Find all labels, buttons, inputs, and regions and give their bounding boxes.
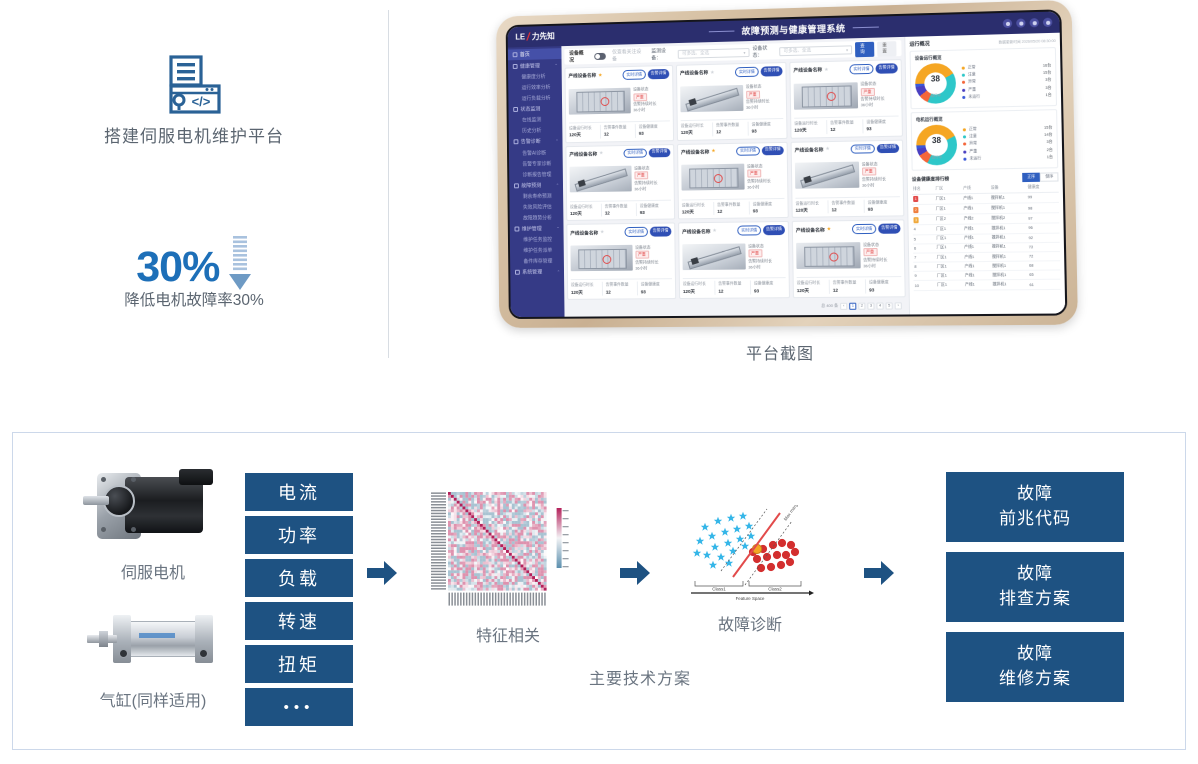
table-row[interactable]: 10厂区1产线1搅拌机161 [914, 280, 1061, 291]
device-status-block: 设备状态严重告警持续时长36小时 [747, 163, 785, 191]
realtime-detail-button[interactable]: 实时详情 [623, 148, 646, 158]
alarm-detail-button[interactable]: 告警详情 [649, 148, 671, 158]
card-header: 产线设备名称★实时详情告警详情 [569, 148, 670, 159]
servo-motor-photo [79, 465, 227, 555]
status-badge: 严重 [746, 90, 760, 98]
rank-cell: 搅拌机1 [991, 252, 1028, 262]
device-stat: 设备健康度93 [748, 121, 784, 135]
device-stat: 设备运行时长120天 [794, 120, 826, 134]
bell-icon[interactable] [1030, 18, 1039, 27]
status-badge: 严重 [633, 93, 647, 101]
rank-cell: 5 [913, 234, 936, 244]
duration-label: 告警持续时长 [635, 259, 658, 264]
duration-label: 告警持续时长 [634, 180, 657, 185]
tablet-screenshot-area: LE / 力先知 故障预测与健康管理系统 [470, 0, 1090, 340]
card-header: 产线设备名称★实时详情告警详情 [568, 69, 669, 81]
rank-medal-icon: 1 [913, 196, 918, 202]
device-overview-column: 设备概况 仅查看关注设备 监测设备： 可多选、全选 ▾ 设备状态： [561, 37, 909, 317]
tablet-caption: 平台截图 [470, 340, 1090, 364]
overview-label: 设备概况 [569, 49, 588, 63]
device-stat: 设备健康度93 [749, 201, 785, 215]
device-card[interactable]: 产线设备名称★实时详情告警详情设备状态严重告警持续时长36小时设备运行时长120… [792, 220, 906, 298]
card-header: 产线设备名称★实时详情告警详情 [793, 63, 897, 75]
realtime-detail-button[interactable]: 实时详情 [849, 64, 873, 74]
chevron-up-icon[interactable]: ⌃ [557, 270, 560, 275]
logo-text-right: 力先知 [532, 31, 555, 42]
card-buttons: 实时详情告警详情 [624, 227, 671, 237]
rank-cell: 搅拌机1 [991, 271, 1028, 281]
tech-solution-caption: 主要技术方案 [505, 665, 775, 689]
rank-cell: 7 [913, 253, 936, 263]
pager-page-1[interactable]: 1 [849, 302, 856, 309]
svg-text:Feature Space: Feature Space [736, 596, 765, 601]
alarm-detail-button[interactable]: 告警详情 [762, 146, 784, 156]
device-thumbnail [680, 85, 743, 112]
output-line1: 故障 [1017, 562, 1053, 587]
pager-prev[interactable]: ‹ [840, 302, 847, 309]
toggle-hint: 仅查看关注设备 [612, 48, 646, 63]
heatmap-caption: 特征相关 [418, 622, 598, 646]
rank-cell: 2 [912, 204, 935, 215]
status-badge: 严重 [635, 251, 649, 259]
duration-label: 告警持续时长 [746, 99, 770, 105]
status-label: 设备状态 [746, 84, 762, 89]
alarm-detail-button[interactable]: 告警详情 [761, 66, 783, 76]
svm-classification-icon: Max marginClass1Class2Feature Space [685, 505, 815, 603]
stat-caption: 降低电机故障率30% [0, 288, 388, 310]
device-card[interactable]: 产线设备名称★实时详情告警详情设备状态严重告警持续时长36小时设备运行时长120… [676, 62, 788, 141]
rank-cell: 6 [913, 243, 936, 253]
device-thumbnail [794, 82, 858, 109]
output-line2: 排查方案 [999, 587, 1071, 612]
logo-text-left: LE [515, 32, 525, 41]
device-card[interactable]: 产线设备名称★实时详情告警详情设备状态严重告警持续时长36小时设备运行时长120… [566, 223, 676, 300]
parameter-box-3: 转速 [245, 602, 353, 640]
rank-cell: 产线1 [963, 243, 991, 253]
duration-label: 告警持续时长 [747, 178, 771, 183]
realtime-detail-button[interactable]: 实时详情 [736, 146, 760, 156]
device-stat: 设备运行时长120天 [682, 202, 714, 216]
card-body: 设备状态严重告警持续时长36小时 [794, 75, 899, 116]
device-card[interactable]: 产线设备名称★实时详情告警详情设备状态严重告警持续时长36小时设备运行时长120… [565, 144, 675, 222]
device-card[interactable]: 产线设备名称★实时详情告警详情设备状态严重告警持续时长36小时设备运行时长120… [791, 139, 905, 218]
legend-swatch [962, 96, 965, 99]
device-stat-value: 12 [718, 287, 750, 295]
rank-header: 设备健康度排行榜 正序倒序 [912, 172, 1059, 184]
card-body: 设备状态严重告警持续时长36小时 [570, 238, 672, 277]
rank-cell: 厂区1 [936, 271, 964, 281]
stat-value: 30% [136, 246, 219, 289]
pneumatic-cylinder-label: 气缸(同样适用) [73, 687, 233, 711]
app-body: 首页健康管理⌃健康度分析运行效率分析运行负载分析状态监测在线监测历史分析告警诊断… [508, 33, 1065, 317]
device-card[interactable]: 产线设备名称★实时详情告警详情设备状态严重告警持续时长36小时设备运行时长120… [789, 59, 903, 138]
heatmap-block: 特征相关 [418, 488, 598, 646]
realtime-detail-button[interactable]: 实时详情 [622, 70, 645, 80]
chevron-up-icon[interactable]: ⌃ [556, 226, 559, 231]
device-stat: 设备健康度93 [864, 199, 901, 213]
rank-cell: 搅拌机1 [990, 203, 1027, 214]
run-overview-title: 运行概况 [909, 40, 929, 48]
device-card[interactable]: 产线设备名称★实时详情告警详情设备状态严重告警持续时长36小时设备运行时长120… [565, 65, 675, 143]
card-stats: 设备运行时长120天告警事件数量12设备健康度93 [570, 199, 671, 217]
down-arrow-icon [228, 236, 252, 294]
sidebar-sub-item-15[interactable]: 故障趋势分析 [510, 212, 564, 224]
output-line1: 故障 [1017, 642, 1053, 667]
device-stat-value: 120天 [794, 126, 826, 134]
status-label: 设备状态 [748, 243, 764, 248]
alarm-detail-button[interactable]: 告警详情 [878, 224, 900, 234]
status-label: 设备状态 [634, 165, 650, 170]
favorites-toggle[interactable] [594, 52, 606, 59]
rank-cell: 产线1 [963, 252, 991, 262]
device-status-block: 设备状态严重告警持续时长36小时 [746, 83, 784, 111]
duration-label: 告警持续时长 [860, 96, 884, 102]
device-donut-chart: 38 运行中 [915, 63, 956, 104]
favorite-star-icon[interactable]: ★ [712, 228, 717, 234]
device-stat-value: 120天 [571, 288, 602, 296]
rank-cell: 92 [1027, 233, 1059, 243]
status-label: 设备状态 [862, 161, 878, 166]
output-box-2: 故障维修方案 [946, 632, 1124, 702]
parameter-box-2: 负载 [245, 559, 353, 597]
rank-cell: 厂区1 [936, 262, 964, 272]
health-rank-table: 排名厂区产线设备健康度 1厂区1产线1搅拌机1992厂区1产线1搅拌机1983厂… [912, 184, 1061, 291]
home-icon[interactable] [1016, 18, 1025, 27]
device-stat: 设备健康度93 [862, 119, 899, 133]
alarm-detail-button[interactable]: 告警详情 [648, 69, 670, 79]
sidebar-sub-item-17[interactable]: 维护任务监控 [510, 234, 564, 245]
sidebar-item-12[interactable]: 故障预测⌃ [509, 179, 563, 191]
svm-caption: 故障诊断 [670, 611, 830, 635]
device-thumbnail [569, 88, 631, 115]
svg-text:Class1: Class1 [712, 587, 726, 592]
realtime-detail-button[interactable]: 实时详情 [737, 226, 761, 236]
card-header: 产线设备名称★实时详情告警详情 [795, 143, 900, 155]
app-title: 故障预测与健康管理系统 [741, 21, 845, 37]
data-updated-time: 数据更新时间 2026/05/20 08:30:00 [999, 39, 1056, 46]
rank-cell: 9 [913, 271, 936, 281]
rank-cell: 10 [914, 281, 937, 291]
device-stat: 设备健康度93 [750, 281, 786, 295]
favorite-star-icon[interactable]: ★ [711, 149, 715, 155]
favorite-star-icon[interactable]: ★ [824, 67, 829, 73]
status-badge: 严重 [860, 88, 874, 96]
rank-cell: 68 [1028, 261, 1060, 271]
rank-cell: 搅拌机1 [991, 280, 1028, 290]
device-stat: 设备健康度93 [637, 282, 672, 296]
duration-label: 告警持续时长 [748, 258, 772, 263]
card-body: 设备状态严重告警持续时长36小时 [681, 157, 784, 197]
device-stat-value: 93 [868, 205, 900, 213]
duration-label: 告警持续时长 [633, 101, 656, 106]
rank-cell: 61 [1028, 280, 1060, 290]
rank-tab-1[interactable]: 倒序 [1040, 172, 1058, 181]
parameter-box-4: 扭矩 [245, 645, 353, 683]
sidebar[interactable]: 首页健康管理⌃健康度分析运行效率分析运行负载分析状态监测在线监测历史分析告警诊断… [508, 46, 565, 317]
filter-group: 监测设备： 可多选、全选 ▾ 设备状态： 可多选、全选 ▾ [651, 41, 896, 62]
status-label: 设备状态 [635, 244, 651, 249]
alarm-detail-button[interactable]: 告警详情 [875, 63, 897, 73]
app-logo[interactable]: LE / 力先知 [508, 29, 591, 43]
device-stat: 设备健康度93 [636, 202, 671, 216]
servo-motor-label: 伺服电机 [73, 559, 233, 583]
card-stats: 设备运行时长120天告警事件数量12设备健康度93 [797, 276, 902, 294]
status-filter-select[interactable]: 可多选、全选 ▾ [780, 45, 853, 56]
output-box-0: 故障前兆代码 [946, 472, 1124, 542]
rank-cell: 搅拌机1 [990, 193, 1027, 204]
rank-cell: 厂区1 [935, 234, 963, 244]
device-stat-value: 93 [753, 207, 785, 215]
vertical-divider [388, 10, 389, 358]
legend-swatch [962, 74, 965, 77]
legend-swatch [963, 136, 966, 139]
legend-value: 2台 [1047, 147, 1053, 154]
device-stat: 告警事件数量12 [826, 119, 862, 133]
rank-cell: 产线1 [963, 233, 991, 243]
sidebar-sub-item-13[interactable]: 剩余寿命预测 [509, 190, 563, 202]
device-thumbnail [570, 166, 632, 193]
card-buttons: 实时详情告警详情 [851, 143, 900, 154]
legend-swatch [963, 128, 966, 131]
card-buttons: 实时详情告警详情 [735, 66, 783, 77]
device-filter-placeholder: 可多选、全选 [682, 50, 709, 57]
device-stat: 设备运行时长120天 [569, 125, 600, 139]
rank-cell: 搅拌机2 [990, 213, 1027, 224]
sidebar-sub-item-18[interactable]: 维护任务派单 [510, 245, 564, 256]
device-stat-value: 12 [833, 286, 865, 294]
device-stat-value: 12 [605, 209, 636, 217]
duration-value: 36小时 [862, 182, 875, 187]
alarm-detail-button[interactable]: 告警详情 [877, 143, 899, 153]
card-buttons: 实时详情告警详情 [622, 69, 669, 80]
duration-label: 告警持续时长 [862, 176, 886, 181]
chevron-up-icon[interactable]: ⌃ [556, 182, 559, 187]
device-donut-panel: 设备运行概览 38 运行中 正常16台注意15台异常3台严重3台未运行1台 [910, 47, 1057, 109]
device-stat: 设备运行时长120天 [683, 281, 715, 295]
card-buttons: 实时详情告警详情 [849, 63, 897, 74]
rank-cell: 产线1 [962, 203, 990, 214]
legend-label: 未运行 [969, 155, 981, 163]
realtime-detail-button[interactable]: 实时详情 [851, 144, 875, 154]
device-name: 产线设备名称 [568, 72, 596, 80]
rank-cell: 96 [1027, 223, 1059, 233]
device-card[interactable]: 产线设备名称★实时详情告警详情设备状态严重告警持续时长36小时设备运行时长120… [677, 142, 789, 220]
device-name: 产线设备名称 [796, 226, 825, 233]
settings-icon[interactable] [1043, 18, 1052, 27]
run-overview-header: 运行概况 数据更新时间 2026/05/20 08:30:00 [909, 37, 1055, 48]
rank-cell: 8 [913, 262, 936, 272]
device-card[interactable]: 产线设备名称★实时详情告警详情设备状态严重告警持续时长36小时设备运行时长120… [678, 221, 790, 299]
output-line2: 前兆代码 [999, 507, 1071, 532]
rank-cell: 搅拌机1 [991, 242, 1028, 252]
device-stat-value: 93 [641, 288, 672, 296]
card-buttons: 实时详情告警详情 [737, 225, 785, 235]
rank-cell: 产线1 [963, 262, 991, 272]
rank-cell: 65 [1028, 270, 1060, 280]
rank-cell: 产线2 [963, 214, 991, 225]
rank-table-body: 1厂区1产线1搅拌机1992厂区1产线1搅拌机1983厂区2产线2搅拌机2974… [912, 192, 1061, 290]
sidebar-sub-item-19[interactable]: 备件库存管理 [510, 256, 564, 267]
legend-item: 未运行1台 [962, 92, 1052, 101]
sidebar-item-label: 状态监测 [520, 105, 540, 112]
favorite-star-icon[interactable]: ★ [825, 147, 830, 153]
rank-cell: 搅拌机1 [990, 224, 1027, 234]
query-button[interactable]: 查询 [855, 41, 874, 57]
legend-swatch [962, 81, 965, 84]
correlation-heatmap-icon [429, 488, 587, 606]
pager-page-4[interactable]: 4 [876, 302, 883, 309]
device-thumbnail [795, 162, 859, 189]
title-rule-left [709, 31, 735, 33]
sidebar-item-label: 故障预测 [521, 182, 541, 189]
window-icons[interactable] [1003, 17, 1060, 28]
device-stat: 设备运行时长120天 [570, 203, 601, 217]
device-stat-value: 12 [832, 206, 864, 214]
reset-button[interactable]: 重置 [877, 41, 896, 57]
sidebar-item-16[interactable]: 维护管理⌃ [510, 223, 564, 235]
svg-text:</>: </> [192, 94, 211, 109]
svg-text:Max margin: Max margin [783, 505, 801, 522]
favorite-star-icon[interactable]: ★ [598, 72, 602, 78]
pager-page-3[interactable]: 3 [867, 302, 874, 309]
arrow-heatmap-to-svm [618, 556, 652, 590]
sidebar-item-20[interactable]: 系统管理⌃ [510, 267, 564, 279]
favorite-star-icon[interactable]: ★ [599, 151, 603, 157]
card-header: 产线设备名称★实时详情告警详情 [680, 66, 783, 78]
legend-swatch [963, 143, 966, 146]
pager-next[interactable]: › [895, 302, 902, 309]
infographic-page: </> 搭建伺服电机维护平台 30% [0, 0, 1198, 764]
logo-slash-icon: / [526, 31, 531, 43]
device-filter-label: 监测设备： [651, 47, 675, 61]
favorite-star-icon[interactable]: ★ [600, 229, 604, 235]
device-stat-value: 93 [866, 125, 898, 133]
status-filter-placeholder: 可多选、全选 [784, 47, 812, 54]
device-stat-value: 93 [639, 130, 670, 138]
rank-title: 设备健康度排行榜 [912, 176, 950, 183]
device-status-block: 设备状态严重告警持续时长36小时 [748, 243, 786, 270]
device-stat-value: 12 [830, 126, 862, 134]
realtime-detail-button[interactable]: 实时详情 [624, 227, 647, 237]
chevron-up-icon[interactable]: ⌃ [554, 62, 557, 67]
rank-cell: 厂区1 [935, 204, 963, 215]
motor-donut-value: 38 [916, 137, 957, 146]
pager-page-2[interactable]: 2 [858, 302, 865, 309]
card-stats: 设备运行时长120天告警事件数量12设备健康度93 [682, 198, 785, 216]
alarm-detail-button[interactable]: 告警详情 [650, 227, 672, 237]
legend-value: 3台 [1046, 139, 1052, 146]
device-status-block: 设备状态严重告警持续时长36小时 [862, 161, 900, 189]
rank-cell: 厂区1 [935, 243, 963, 253]
device-column: 伺服电机 气缸(同样适用) [73, 465, 233, 711]
device-stat-value: 93 [869, 286, 902, 294]
device-stat: 设备运行时长120天 [681, 123, 713, 137]
status-label: 设备状态 [863, 242, 879, 247]
duration-value: 36小时 [863, 263, 876, 268]
device-stat: 设备健康度93 [865, 279, 902, 293]
legend-swatch [963, 158, 966, 161]
device-filter-select[interactable]: 可多选、全选 ▾ [678, 48, 749, 59]
device-stat-value: 12 [604, 130, 635, 138]
card-stats: 设备运行时长120天告警事件数量12设备健康度93 [571, 279, 672, 296]
device-name: 产线设备名称 [681, 148, 709, 155]
device-name: 产线设备名称 [570, 229, 598, 236]
card-stats: 设备运行时长120天告警事件数量12设备健康度93 [683, 278, 786, 295]
device-name: 产线设备名称 [793, 66, 822, 74]
favorite-star-icon[interactable]: ★ [710, 70, 714, 76]
legend-swatch [963, 150, 966, 153]
card-buttons: 实时详情告警详情 [623, 148, 670, 158]
rank-cell: 4 [913, 225, 936, 235]
device-stat-value: 120天 [569, 131, 600, 139]
chevron-up-icon[interactable]: ⌃ [555, 139, 558, 144]
platform-summary-panel: </> 搭建伺服电机维护平台 30% [0, 0, 388, 380]
sidebar-item-label: 首页 [520, 51, 530, 58]
rank-cell: 产线1 [962, 193, 990, 204]
device-stat: 设备运行时长120天 [571, 282, 602, 296]
pagination[interactable]: 总 400 条‹12345› [567, 299, 906, 313]
alarm-detail-button[interactable]: 告警详情 [763, 225, 785, 235]
duration-value: 36小时 [748, 264, 760, 269]
legend-value: 1台 [1047, 154, 1053, 161]
device-thumbnail [570, 245, 632, 271]
status-badge: 严重 [748, 249, 762, 257]
rank-cell: 搅拌机1 [991, 261, 1028, 271]
chevron-down-icon: ▾ [743, 50, 745, 55]
favorite-star-icon[interactable]: ★ [827, 227, 832, 233]
card-header: 产线设备名称★实时详情告警详情 [681, 146, 784, 157]
device-name: 产线设备名称 [795, 146, 824, 154]
motor-donut-row: 38 运行中 正常15台注意14台异常3台严重2台未运行1台 [916, 122, 1053, 165]
device-donut-legend: 正常16台注意15台异常3台严重3台未运行1台 [962, 62, 1052, 101]
rank-cell: 厂区1 [935, 193, 963, 204]
rank-tab-0[interactable]: 正序 [1022, 173, 1040, 182]
device-card-grid: 产线设备名称★实时详情告警详情设备状态严重告警持续时长36小时设备运行时长120… [565, 59, 906, 300]
rank-cell: 产线1 [964, 280, 992, 290]
device-stat-value: 12 [716, 128, 748, 136]
device-stat: 告警事件数量12 [714, 281, 750, 295]
platform-caption: 搭建伺服电机维护平台 [0, 122, 388, 147]
rank-order-tabs[interactable]: 正序倒序 [1022, 172, 1059, 182]
monitor-icon [513, 107, 518, 112]
tablet-device: LE / 力先知 故障预测与健康管理系统 [496, 0, 1078, 328]
home-icon [513, 52, 518, 57]
motor-donut-label: 运行中 [932, 155, 942, 159]
svm-block: Max marginClass1Class2Feature Space 故障诊断 [670, 505, 830, 635]
sidebar-item-label: 告警诊断 [521, 138, 541, 145]
pager-page-5[interactable]: 5 [886, 302, 893, 309]
status-badge: 严重 [634, 172, 648, 180]
platform-code-icon: </> [155, 55, 235, 117]
realtime-detail-button[interactable]: 实时详情 [735, 67, 759, 77]
card-buttons: 实时详情告警详情 [852, 224, 901, 234]
realtime-detail-button[interactable]: 实时详情 [852, 224, 876, 234]
tablet-screen: LE / 力先知 故障预测与健康管理系统 [506, 9, 1068, 319]
device-stat-value: 120天 [797, 286, 829, 294]
status-badge: 严重 [747, 170, 761, 178]
motor-donut-legend: 正常15台注意14台异常3台严重2台未运行1台 [963, 124, 1053, 162]
pneumatic-cylinder-photo [79, 593, 227, 683]
device-name: 产线设备名称 [682, 228, 710, 235]
sidebar-sub-item-14[interactable]: 失效风险评估 [509, 201, 563, 213]
device-status-block: 设备状态严重告警持续时长36小时 [860, 81, 898, 109]
user-icon[interactable] [1003, 19, 1012, 28]
duration-label: 告警持续时长 [863, 257, 887, 262]
predict-icon [514, 183, 519, 188]
duration-value: 36小时 [633, 107, 645, 112]
status-label: 设备状态 [633, 87, 649, 92]
device-stat-value: 93 [754, 287, 786, 295]
